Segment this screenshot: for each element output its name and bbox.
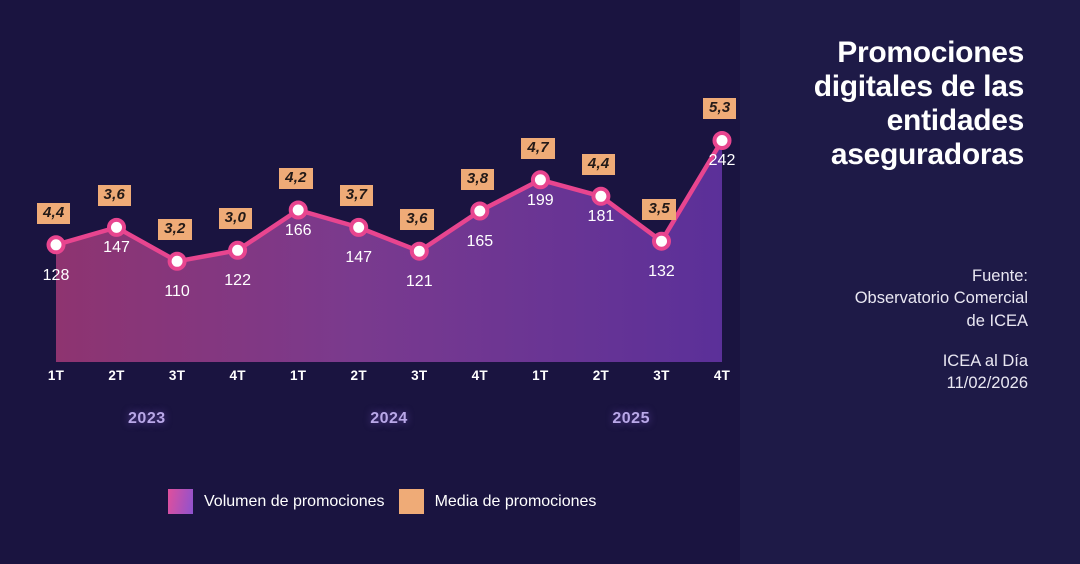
average-label-5: 3,7 xyxy=(340,185,373,206)
average-label-11: 5,3 xyxy=(703,98,736,119)
data-point-9 xyxy=(593,189,608,204)
data-point-10 xyxy=(654,234,669,249)
volume-label-7: 165 xyxy=(450,233,510,251)
legend-label-media: Media de promociones xyxy=(435,493,597,511)
area-chart-svg xyxy=(0,0,740,564)
legend-item-volumen: Volumen de promociones xyxy=(168,489,385,514)
volume-label-1: 147 xyxy=(87,239,147,257)
publication-name: ICEA al Día xyxy=(766,350,1028,372)
x-tick-7: 4T xyxy=(450,368,510,383)
average-label-7: 3,8 xyxy=(461,169,494,190)
data-point-7 xyxy=(472,204,487,219)
legend-label-volumen: Volumen de promociones xyxy=(204,493,385,511)
x-tick-9: 2T xyxy=(571,368,631,383)
data-point-1 xyxy=(109,220,124,235)
source-line-1: Observatorio Comercial xyxy=(766,287,1028,309)
data-point-4 xyxy=(291,203,306,218)
data-point-2 xyxy=(170,254,185,269)
publication-date: 11/02/2026 xyxy=(766,372,1028,394)
year-label-2025: 2025 xyxy=(571,410,691,428)
page-title-line-1: Promociones xyxy=(768,36,1024,70)
volume-label-0: 128 xyxy=(26,267,86,285)
legend-item-media: Media de promociones xyxy=(399,489,597,514)
infographic-root: 1T2T3T4T1T2T3T4T1T2T3T4T 202320242025 12… xyxy=(0,0,1080,564)
x-tick-10: 3T xyxy=(631,368,691,383)
page-title-line-4: aseguradoras xyxy=(768,138,1024,172)
average-label-2: 3,2 xyxy=(158,219,191,240)
volume-label-4: 166 xyxy=(268,222,328,240)
data-point-8 xyxy=(533,172,548,187)
source-line-2: de ICEA xyxy=(766,310,1028,332)
volume-label-6: 121 xyxy=(389,273,449,291)
volume-label-2: 110 xyxy=(147,283,207,301)
data-point-11 xyxy=(715,133,730,148)
volume-label-8: 199 xyxy=(510,192,570,210)
legend-swatch-media xyxy=(399,489,424,514)
x-tick-1: 2T xyxy=(87,368,147,383)
page-title-line-2: digitales de las xyxy=(768,70,1024,104)
average-label-3: 3,0 xyxy=(219,208,252,229)
average-label-9: 4,4 xyxy=(582,154,615,175)
volume-label-3: 122 xyxy=(208,272,268,290)
year-label-2024: 2024 xyxy=(329,410,449,428)
average-label-4: 4,2 xyxy=(279,168,312,189)
average-label-6: 3,6 xyxy=(400,209,433,230)
x-tick-4: 1T xyxy=(268,368,328,383)
volume-label-9: 181 xyxy=(571,208,631,226)
average-label-1: 3,6 xyxy=(98,185,131,206)
info-panel: Promociones digitales de las entidades a… xyxy=(740,0,1080,564)
x-tick-2: 3T xyxy=(147,368,207,383)
average-label-10: 3,5 xyxy=(642,199,675,220)
volume-label-5: 147 xyxy=(329,249,389,267)
page-title-line-3: entidades xyxy=(768,104,1024,138)
average-label-0: 4,4 xyxy=(37,203,70,224)
x-tick-0: 1T xyxy=(26,368,86,383)
chart-panel: 1T2T3T4T1T2T3T4T1T2T3T4T 202320242025 12… xyxy=(0,0,740,564)
x-tick-3: 4T xyxy=(208,368,268,383)
x-tick-5: 2T xyxy=(329,368,389,383)
x-tick-8: 1T xyxy=(510,368,570,383)
publication-block: ICEA al Día 11/02/2026 xyxy=(766,350,1028,395)
page-title: Promociones digitales de las entidades a… xyxy=(768,36,1024,172)
source-label: Fuente: xyxy=(766,265,1028,287)
legend-swatch-volumen xyxy=(168,489,193,514)
data-point-0 xyxy=(49,237,64,252)
year-label-2023: 2023 xyxy=(87,410,207,428)
data-point-5 xyxy=(351,220,366,235)
volume-label-10: 132 xyxy=(631,263,691,281)
chart-legend: Volumen de promociones Media de promocio… xyxy=(168,489,596,514)
data-point-3 xyxy=(230,243,245,258)
x-tick-6: 3T xyxy=(389,368,449,383)
data-point-6 xyxy=(412,244,427,259)
average-label-8: 4,7 xyxy=(521,138,554,159)
source-block: Fuente: Observatorio Comercial de ICEA xyxy=(766,265,1028,332)
